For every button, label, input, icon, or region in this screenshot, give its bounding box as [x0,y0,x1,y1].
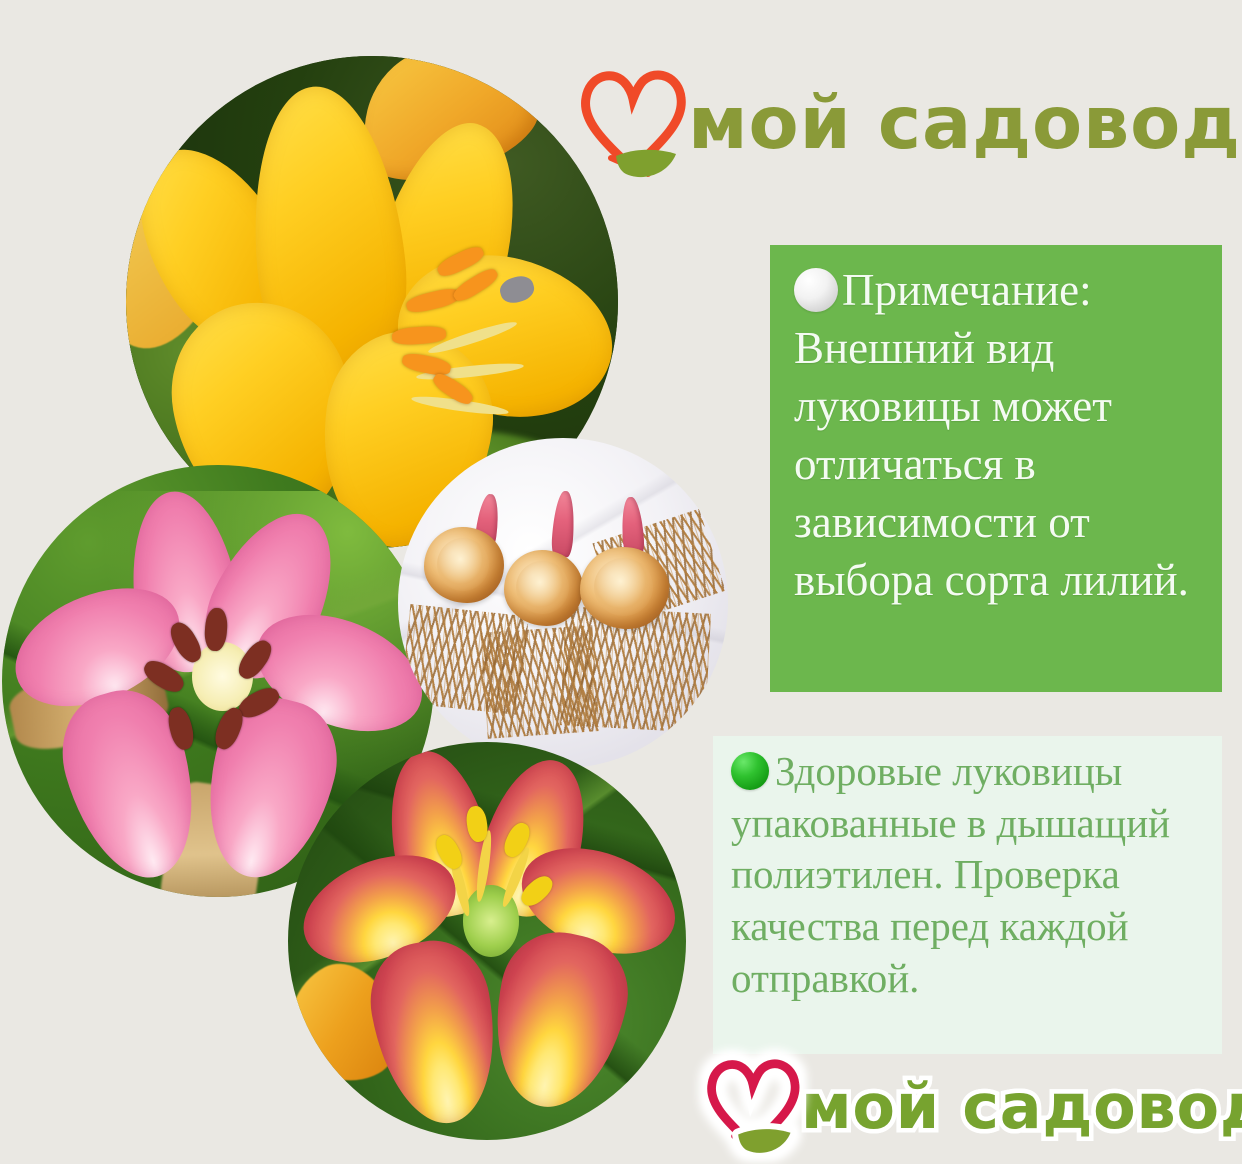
brand-logo-bottom: мой садовод [705,1052,1242,1161]
heart-leaf-logo-icon [578,62,688,185]
brand-name-top: мой садовод [688,87,1241,160]
note-box: Примечание: Внешний вид луковицы может о… [770,245,1222,692]
brand-logo-top: мой садовод [578,62,1241,185]
heart-leaf-logo-icon [705,1052,801,1161]
health-full-text: Здоровые луковицы упакованные в дышащий … [731,748,1170,1001]
health-text-block: Здоровые луковицы упакованные в дышащий … [731,746,1208,1004]
white-circle-bullet-icon [794,268,838,312]
lily-bulb [580,547,669,630]
brand-name-bottom: мой садовод [801,1076,1242,1138]
note-full-text: Примечание: Внешний вид луковицы может о… [794,265,1189,605]
lily-bulb [504,550,583,626]
lily-bulb [424,527,503,603]
green-circle-bullet-icon [731,752,769,790]
health-box: Здоровые луковицы упакованные в дышащий … [713,736,1222,1054]
photo-lily-bulbs [398,438,728,768]
note-text-block: Примечание: Внешний вид луковицы может о… [794,261,1200,609]
photo-red-yellow-lily [288,742,686,1140]
